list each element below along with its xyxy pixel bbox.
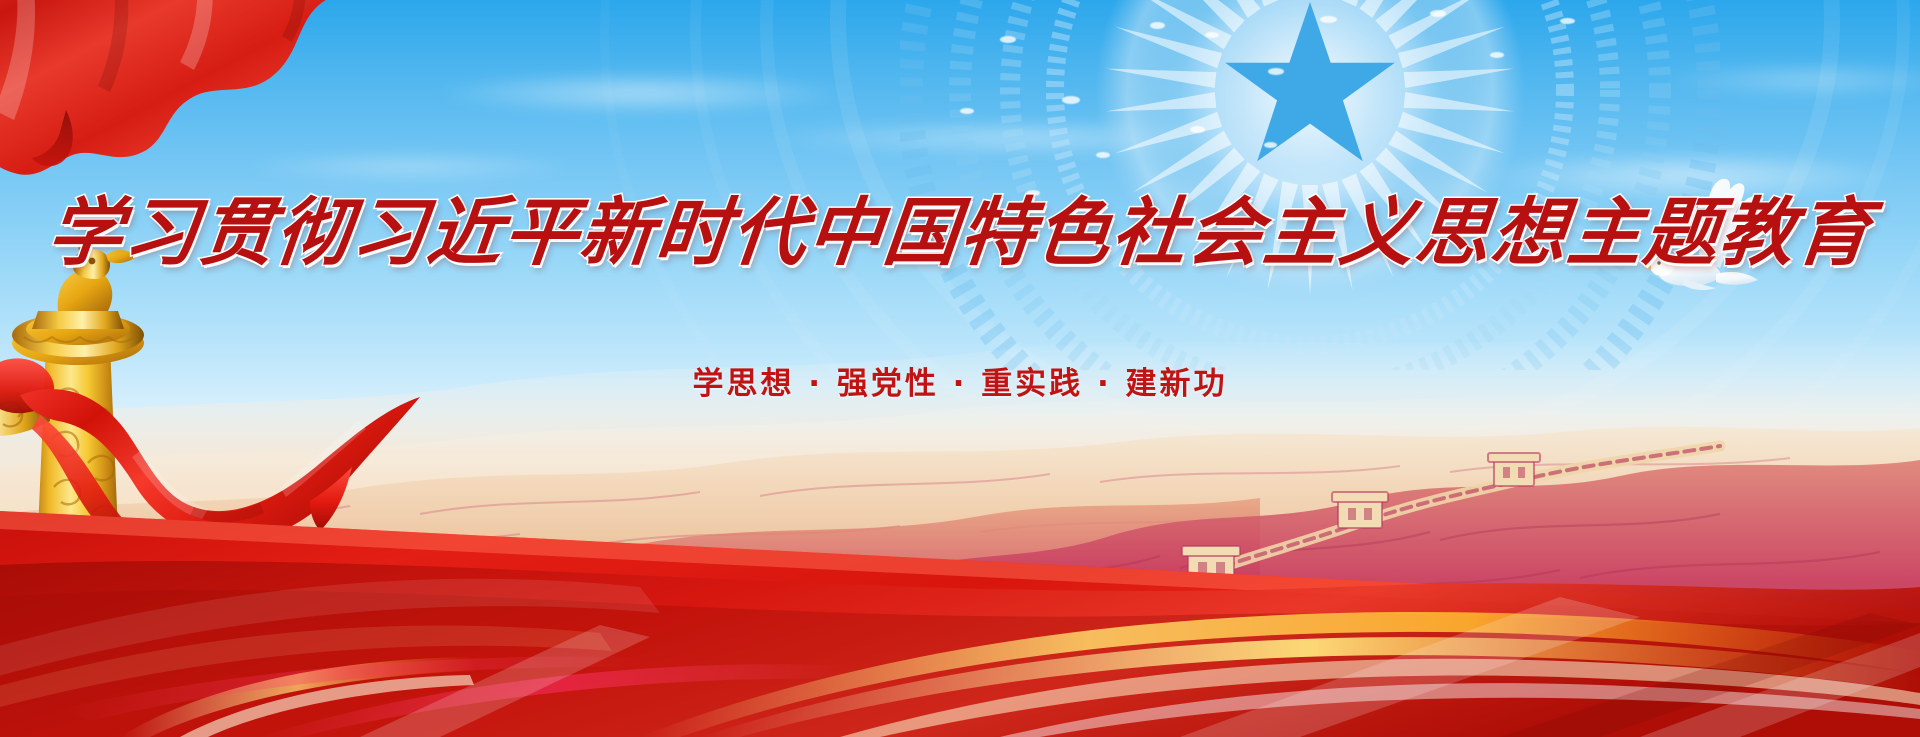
sparkle-dot [1062,96,1080,104]
party-education-banner: 学习贯彻习近平新时代中国特色社会主义思想主题教育 学思想 · 强党性 · 重实践… [0,0,1920,737]
sparkle-dot [1205,32,1219,38]
sparkle-dot [1190,126,1205,133]
sparkle-dot [1000,36,1016,43]
sparkle-dot [1264,142,1277,148]
cloud-wisp [760,118,1280,158]
sparkle-dot [1150,22,1165,29]
sparkle-dot [1560,18,1575,24]
sparkle-dot [1320,16,1337,23]
sparkle-dot [1490,52,1504,58]
sparkle-dot [960,108,974,114]
sparkle-dot [1268,68,1284,75]
sparkle-dot [1430,10,1446,17]
red-flag-icon [0,0,390,190]
sparkle-dot [1026,190,1040,196]
cloud-wisp [1120,170,1500,206]
cloud-wisp [430,70,850,116]
sparkle-dot [1096,152,1110,158]
peace-dove-icon [1640,170,1790,290]
red-wave-base [0,437,1920,737]
